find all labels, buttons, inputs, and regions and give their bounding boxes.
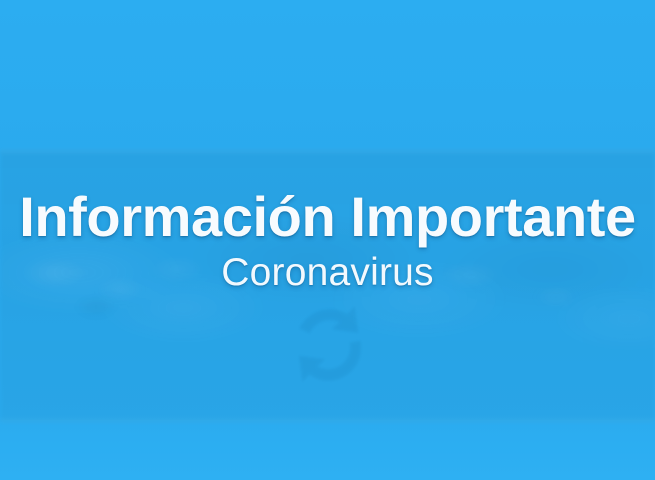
- banner-text-stack: Información Importante Coronavirus: [0, 188, 655, 295]
- page-title: Información Importante: [0, 188, 655, 246]
- coronavirus-info-banner: Información Importante Coronavirus: [0, 0, 655, 480]
- page-subtitle: Coronavirus: [0, 252, 655, 295]
